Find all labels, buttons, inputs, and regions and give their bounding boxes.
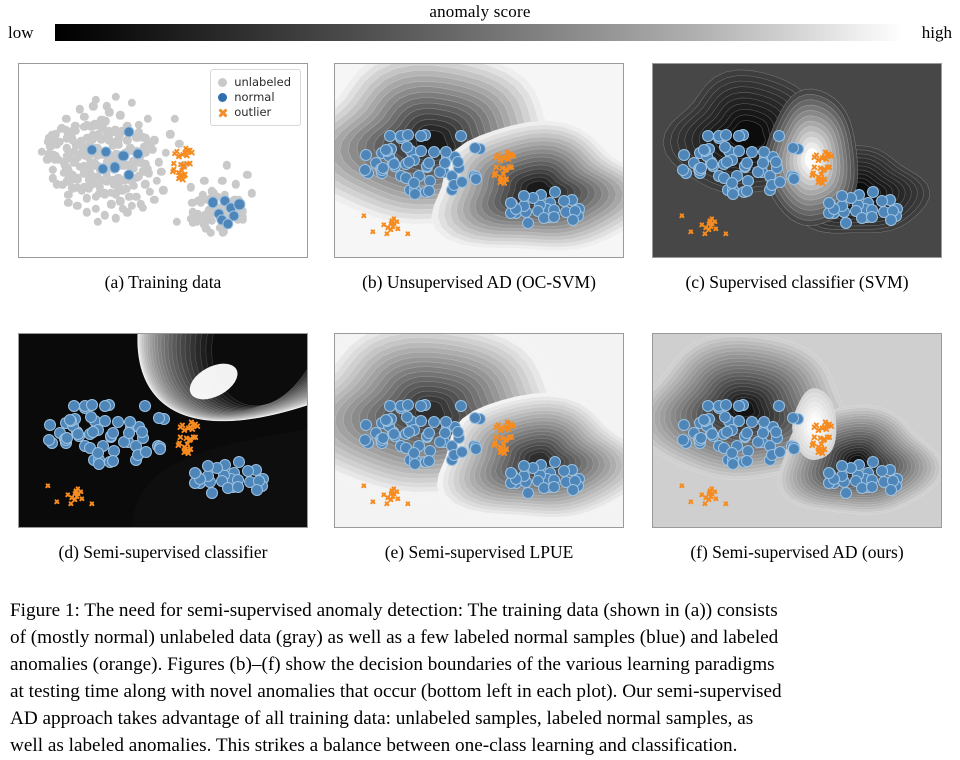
outlier-marker [688,499,694,505]
outlier-marker [171,160,178,167]
normal-point [107,455,119,467]
panel-f-semi-supervised-ad-ours [652,333,942,528]
normal-point [99,400,111,412]
normal-point [377,162,389,174]
normal-point [452,156,464,168]
unlabeled-point [62,114,70,122]
outlier-marker [176,434,183,441]
normal-point [140,446,152,458]
caption-line-5: AD approach takes advantage of all train… [10,706,954,733]
normal-point [409,188,421,200]
panel-c-caption: (c) Supervised classifier (SVM) [642,272,952,293]
normal-point [423,455,435,467]
normal-point [840,487,852,499]
normal-point [558,465,570,477]
normal-point [721,156,733,168]
normal-point [384,400,396,412]
legend-item-outlier: outlier [218,105,291,120]
colorbar-gradient [55,24,900,41]
normal-point [359,164,371,176]
outlier-marker [389,487,395,493]
unlabeled-point [125,192,133,200]
outlier-marker [189,434,196,441]
normal-point [470,173,482,185]
normal-point [109,162,120,173]
outlier-marker [819,180,826,187]
outlier-marker [707,217,713,223]
normal-point [721,426,733,438]
caption-line-6: well as labeled anomalies. This strikes … [10,733,954,760]
unlabeled-point [80,123,88,131]
panel-b-unsupervised-ad [334,63,624,258]
outlier-marker [370,499,376,505]
panel-f-caption: (f) Semi-supervised AD (ours) [642,542,952,563]
normal-point [774,446,786,458]
figure-caption: Figure 1: The need for semi-supervised a… [10,598,954,760]
normal-point [469,412,481,424]
normal-point [112,416,124,428]
normal-point [522,487,534,499]
normal-point [770,426,782,438]
outlier-marker [88,501,94,507]
normal-point [72,428,84,440]
outlier-marker [389,217,395,223]
normal-point [61,432,73,444]
panel-b-caption: (b) Unsupervised AD (OC-SVM) [324,272,634,293]
normal-point [403,426,415,438]
outlier-marker [176,153,183,160]
normal-point [733,130,745,142]
outlier-marker [505,434,512,441]
unlabeled-point [166,130,174,138]
normal-point [452,426,464,438]
normal-point [377,432,389,444]
unlabeled-point [188,199,196,207]
caption-line-4: at testing time along with novel anomali… [10,679,954,706]
colorbar-title: anomaly score [0,2,960,22]
normal-point [770,156,782,168]
panel-e-plot [335,334,623,527]
panel-d-semi-supervised-classifier [18,333,308,528]
outlier-marker [823,434,830,441]
normal-point [403,156,415,168]
unlabeled-point [155,158,163,166]
normal-point [885,214,897,226]
normal-point [402,129,414,141]
normal-point [876,465,888,477]
outlier-marker [185,148,192,155]
normal-point [87,426,99,438]
normal-point [823,467,835,479]
normal-point [567,214,579,226]
outlier-marker [404,231,410,237]
outlier-marker [185,450,192,457]
normal-point [206,487,218,499]
normal-point [456,446,468,458]
circle-gray-icon [218,78,227,87]
normal-point [836,190,848,202]
outlier-marker [722,231,728,237]
outlier-marker [708,224,714,230]
normal-point [787,142,799,154]
outlier-marker [810,164,817,171]
normal-point [423,157,435,169]
normal-point [93,458,105,470]
normal-point [774,176,786,188]
normal-point [469,142,481,154]
normal-point [567,484,579,496]
normal-point [380,414,392,426]
outlier-marker [823,164,830,171]
unlabeled-point [94,217,102,225]
unlabeled-point [159,186,167,194]
normal-point [867,186,879,198]
normal-point [741,157,753,169]
outlier-marker [390,494,396,500]
unlabeled-point [247,189,255,197]
unlabeled-point [171,114,179,122]
normal-point [866,211,878,223]
normal-point [741,455,753,467]
normal-point [518,190,530,202]
normal-point [428,146,440,158]
outlier-marker [492,164,499,171]
normal-point [702,130,714,142]
outlier-marker [824,151,831,158]
normal-point [677,164,689,176]
legend-item-unlabeled: unlabeled [218,75,291,90]
normal-point [456,176,468,188]
outlier-marker [54,499,60,505]
outlier-marker [370,229,376,235]
unlabeled-point [91,205,99,213]
normal-point [455,400,467,412]
normal-point [706,428,718,440]
normal-point [44,419,56,431]
normal-point [549,186,561,198]
normal-point [733,400,745,412]
outlier-marker [492,434,499,441]
normal-point [773,130,785,142]
normal-point [408,447,420,459]
normal-point [439,427,451,439]
normal-point [746,416,758,428]
normal-point [727,458,739,470]
outlier-marker [505,164,512,171]
normal-point [43,434,55,446]
normal-point [698,144,710,156]
outlier-marker [679,483,685,489]
normal-point [388,428,400,440]
unlabeled-point [152,177,160,185]
normal-point [415,400,427,412]
normal-point [522,217,534,229]
normal-point [423,427,435,439]
unlabeled-point [218,177,226,185]
panel-a-training-data: unlabeled normal outlier [18,63,308,258]
normal-point [86,399,98,411]
normal-point [64,414,76,426]
unlabeled-point [243,171,251,179]
normal-point [139,400,151,412]
unlabeled-point [58,181,66,189]
outlier-marker [501,180,508,187]
normal-point [388,158,400,170]
circle-blue-icon [218,93,227,102]
caption-line-3: anomalies (orange). Figures (b)–(f) show… [10,652,954,679]
panel-c-plot [653,64,941,257]
outlier-marker [708,494,714,500]
unlabeled-point [101,117,109,125]
normal-point [402,399,414,411]
colorbar-high-label: high [922,23,952,43]
normal-point [360,149,372,161]
outlier-marker [679,213,685,219]
normal-point [746,146,758,158]
outlier-marker [404,501,410,507]
legend-item-normal: normal [218,90,291,105]
outlier-marker [181,427,188,434]
unlabeled-point [116,111,124,119]
panel-d-caption: (d) Semi-supervised classifier [8,542,318,563]
normal-point [788,173,800,185]
outlier-marker [361,213,367,219]
legend: unlabeled normal outlier [210,69,301,126]
normal-point [68,400,80,412]
unlabeled-point [73,175,81,183]
normal-point [773,400,785,412]
caption-line-1: Figure 1: The need for semi-supervised a… [10,598,954,625]
normal-point [428,416,440,428]
normal-point [757,427,769,439]
colorbar-low-label: low [8,23,34,43]
outlier-marker [688,229,694,235]
unlabeled-point [128,202,136,210]
normal-point [720,129,732,141]
normal-point [558,195,570,207]
normal-point [107,427,119,439]
normal-point [415,130,427,142]
figure-root: anomaly score low high unlabeled normal … [0,0,960,760]
caption-line-2: of (mostly normal) unlabeled data (gray)… [10,625,954,652]
normal-point [505,467,517,479]
normal-point [548,211,560,223]
panel-d-plot [19,334,307,527]
unlabeled-point [107,200,115,208]
normal-point [787,412,799,424]
normal-point [518,460,530,472]
outlier-marker [824,421,831,428]
unlabeled-point [200,177,208,185]
normal-point [823,197,835,209]
normal-point [726,177,738,189]
normal-point [677,434,689,446]
unlabeled-point [161,149,169,157]
normal-point [423,185,435,197]
cross-orange-icon [218,108,227,117]
normal-point [123,427,135,439]
outlier-marker [184,160,191,167]
normal-point [124,416,136,428]
unlabeled-point [64,199,72,207]
outlier-marker [819,450,826,457]
normal-point [695,162,707,174]
normal-point [222,218,233,229]
normal-point [233,456,245,468]
panel-e-semi-supervised-lpue [334,333,624,528]
normal-point [154,443,166,455]
normal-point [384,130,396,142]
normal-point [836,460,848,472]
normal-point [788,443,800,455]
unlabeled-point [73,202,81,210]
panel-f-plot [653,334,941,527]
normal-point [678,149,690,161]
normal-point [867,456,879,468]
normal-point [505,197,517,209]
normal-point [702,400,714,412]
panel-e-caption: (e) Semi-supervised LPUE [324,542,634,563]
outlier-marker [73,487,79,493]
unlabeled-point [143,114,151,122]
normal-point [409,458,421,470]
outlier-marker [390,224,396,230]
normal-point [758,416,770,428]
normal-point [695,432,707,444]
normal-point [866,481,878,493]
unlabeled-point [82,194,90,202]
normal-point [251,484,263,496]
normal-point [153,412,165,424]
normal-point [360,419,372,431]
normal-point [876,195,888,207]
outlier-marker [361,483,367,489]
normal-point [840,217,852,229]
normal-point [380,144,392,156]
legend-label-outlier: outlier [234,104,271,121]
normal-point [92,447,104,459]
outlier-marker [179,177,186,184]
normal-point [706,158,718,170]
normal-point [741,185,753,197]
unlabeled-point [150,196,158,204]
unlabeled-point [89,102,97,110]
outlier-marker [815,427,822,434]
normal-point [885,484,897,496]
normal-point [202,460,214,472]
unlabeled-point [186,183,194,191]
normal-point [757,157,769,169]
unlabeled-point [128,99,136,107]
outlier-marker [497,157,504,164]
unlabeled-point [82,208,90,216]
unlabeled-point [157,167,165,175]
normal-point [118,150,129,161]
normal-point [440,146,452,158]
normal-point [440,416,452,428]
outlier-marker [810,434,817,441]
unlabeled-point [105,108,113,116]
normal-point [136,426,148,438]
normal-point [470,443,482,455]
unlabeled-point [112,214,120,222]
outlier-marker [497,427,504,434]
normal-point [741,427,753,439]
normal-point [408,177,420,189]
panel-a-caption: (a) Training data [18,272,308,293]
normal-point [439,157,451,169]
normal-point [758,146,770,158]
outlier-marker [815,157,822,164]
normal-point [242,465,254,477]
outlier-marker [506,151,513,158]
colorbar: low high [0,22,960,44]
normal-point [359,434,371,446]
normal-point [232,481,244,493]
outlier-marker [707,487,713,493]
outlier-marker [74,494,80,500]
panel-b-plot [335,64,623,257]
normal-point [455,130,467,142]
normal-point [678,419,690,431]
outlier-marker [722,501,728,507]
unlabeled-point [112,93,120,101]
unlabeled-point [206,229,214,237]
normal-point [698,414,710,426]
panel-c-supervised-classifier [652,63,942,258]
normal-point [189,467,201,479]
normal-point [727,188,739,200]
normal-point [726,447,738,459]
outlier-marker [506,421,513,428]
unlabeled-point [100,211,108,219]
outlier-marker [501,450,508,457]
unlabeled-point [48,166,56,174]
unlabeled-point [223,161,231,169]
outlier-marker [45,483,51,489]
normal-point [720,399,732,411]
unlabeled-point [173,217,181,225]
normal-point [548,481,560,493]
normal-point [549,456,561,468]
unlabeled-point [232,180,240,188]
outlier-marker [190,421,197,428]
